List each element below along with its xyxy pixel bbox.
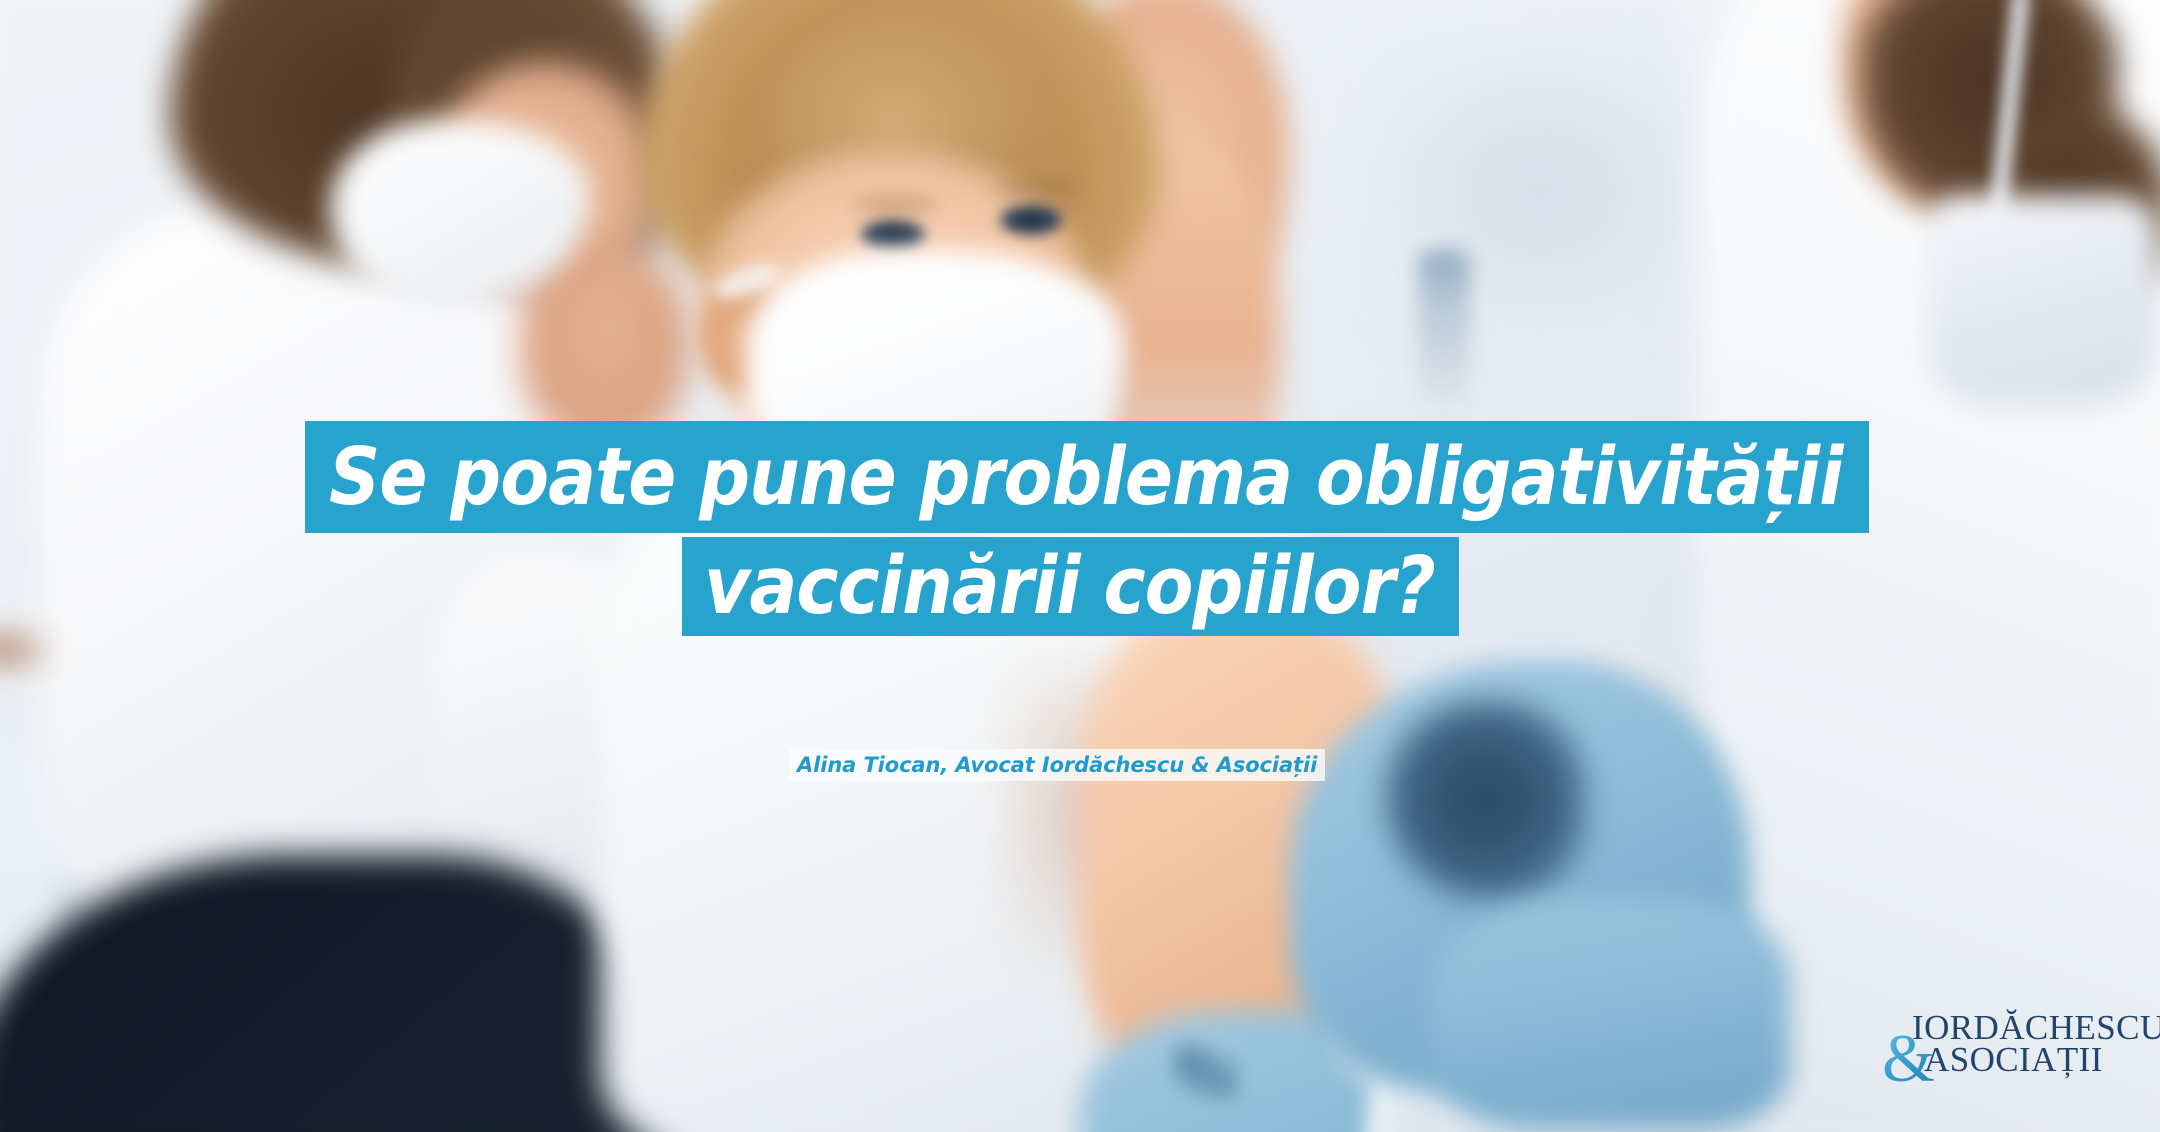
child-eyebrow-left: [852, 196, 938, 212]
background-panel: [1360, 40, 1720, 340]
child-eyebrow-right: [994, 180, 1078, 196]
gloved-hand-knuckles: [1430, 900, 1790, 1130]
doctor-face-mask: [1928, 195, 2158, 405]
byline-author: Alina Tiocan, Avocat Iordăchescu & Asoci…: [789, 749, 1325, 781]
child-eye-right: [1000, 205, 1062, 235]
background-vial: [1418, 250, 1470, 410]
child-eye-left: [861, 220, 925, 250]
mother-neck: [520, 250, 690, 450]
headline-line-1: Se poate pune problema obligativității: [305, 421, 1869, 533]
headline-line-2: vaccinării copiilor?: [682, 537, 1459, 636]
gloved-hand-detail: [1170, 1040, 1240, 1100]
article-hero-banner: Se poate pune problema obligativității v…: [0, 0, 2160, 1132]
logo-line-2: ASOCIAȚII: [1924, 1042, 2103, 1078]
gloved-hand-shadow: [1385, 700, 1585, 900]
brand-logo: & IORDĂCHESCU ASOCIAȚII: [1888, 1010, 2120, 1096]
